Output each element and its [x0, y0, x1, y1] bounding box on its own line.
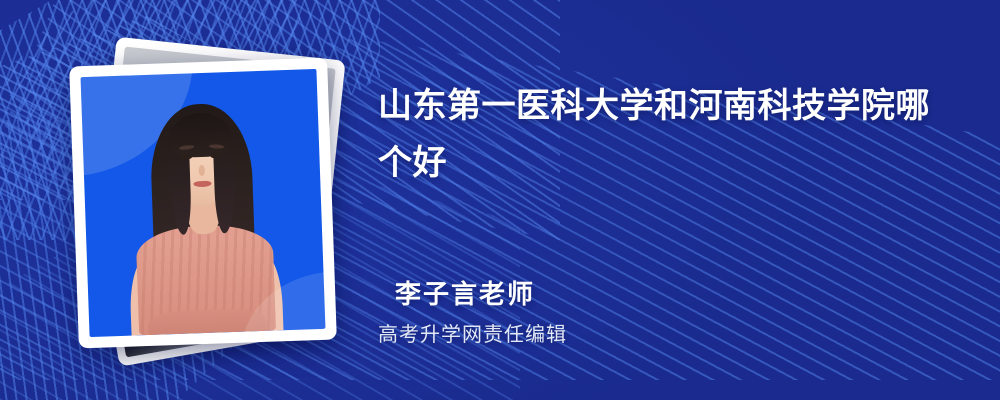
article-title: 山东第一医科大学和河南科技学院哪个好: [378, 78, 956, 192]
author-portrait-photo: [81, 69, 326, 337]
article-header-banner: 山东第一医科大学和河南科技学院哪个好 李子言老师 高考升学网责任编辑: [0, 0, 1000, 400]
portrait-figure: [81, 69, 326, 337]
photo-card-front: [69, 58, 337, 349]
author-name: 李子言老师: [395, 274, 535, 311]
portrait-dress-waist: [148, 307, 267, 334]
portrait-eyebrow-right: [209, 144, 224, 149]
banner-text-block: 山东第一医科大学和河南科技学院哪个好 李子言老师 高考升学网责任编辑: [378, 0, 978, 400]
author-role: 高考升学网责任编辑: [378, 318, 567, 347]
author-photo-stack: [48, 20, 358, 380]
